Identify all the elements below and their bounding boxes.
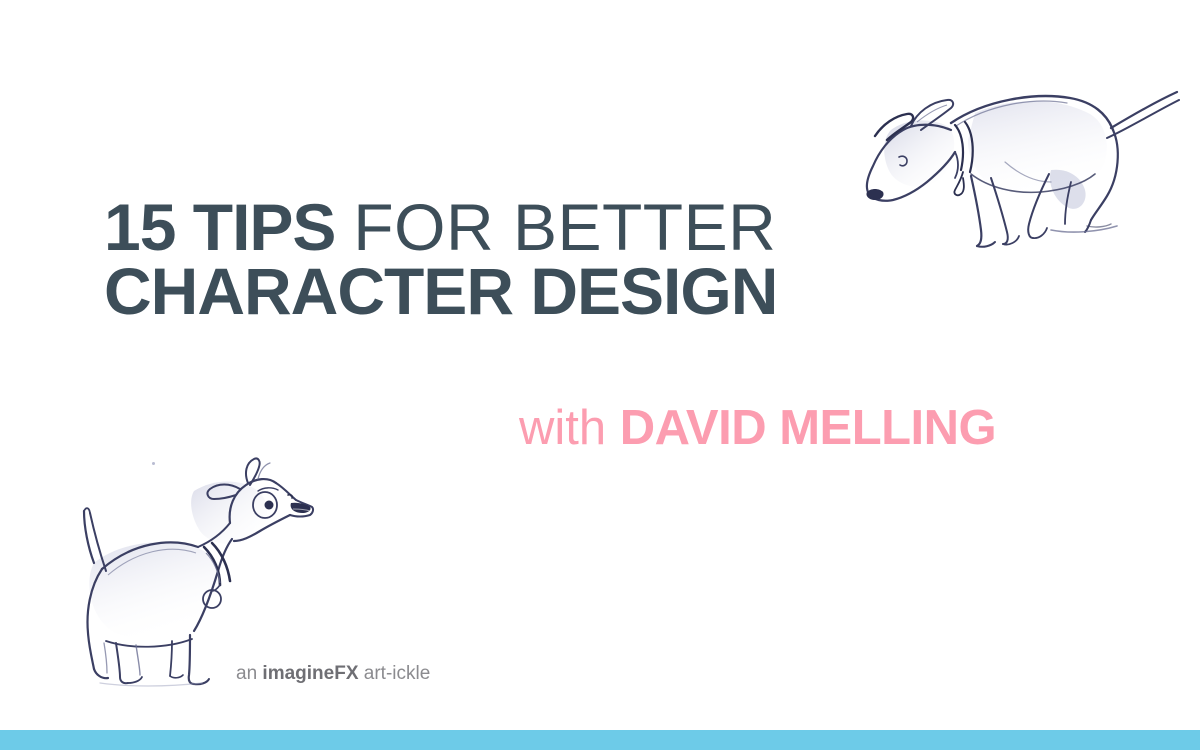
hind-leg-near bbox=[116, 643, 128, 683]
head-shading bbox=[884, 120, 954, 186]
eye-pupil bbox=[265, 501, 274, 510]
presenter-prefix: with bbox=[519, 401, 606, 455]
tail-upper bbox=[1111, 92, 1177, 128]
hind-paw-near bbox=[1033, 228, 1047, 238]
hind-paw-rear bbox=[94, 669, 108, 678]
hind-leg-far bbox=[136, 645, 140, 675]
body-shading bbox=[89, 542, 218, 640]
nostril bbox=[288, 495, 292, 498]
title-line-two: CHARACTER DESIGN bbox=[104, 260, 1004, 322]
nose bbox=[866, 189, 883, 200]
title-line-one-light: FOR BETTER bbox=[353, 190, 776, 264]
front-leg-near bbox=[189, 635, 194, 684]
dog-sniffing-sketch bbox=[855, 78, 1185, 268]
title-line-two-bold: CHARACTER DESIGN bbox=[104, 254, 777, 328]
ear-far bbox=[246, 458, 260, 485]
ground-line bbox=[100, 683, 202, 686]
bottom-accent-bar bbox=[0, 730, 1200, 750]
title-emphasis-count: 15 TIPS bbox=[104, 190, 335, 264]
tail-lower bbox=[1107, 100, 1179, 138]
ground-line-accent bbox=[1087, 224, 1111, 227]
front-leg-far bbox=[170, 641, 172, 676]
cheek-line bbox=[955, 152, 958, 178]
collar-front bbox=[955, 125, 963, 170]
front-paw-far bbox=[170, 675, 183, 678]
credit-suffix: art-ickle bbox=[364, 663, 431, 684]
tail-upper bbox=[84, 511, 94, 563]
hind-leg-inner bbox=[104, 643, 107, 673]
front-leg-near bbox=[971, 176, 981, 246]
presenter-name: DAVID MELLING bbox=[620, 401, 996, 455]
slide-canvas: 15 TIPS FOR BETTER CHARACTER DESIGN with… bbox=[0, 0, 1200, 750]
ground-line bbox=[1051, 226, 1117, 232]
hind-paw-near bbox=[128, 677, 142, 683]
eyebrow bbox=[258, 488, 278, 491]
dog-looking-up-sketch bbox=[62, 455, 317, 690]
presenter-line: with DAVID MELLING bbox=[519, 404, 996, 453]
